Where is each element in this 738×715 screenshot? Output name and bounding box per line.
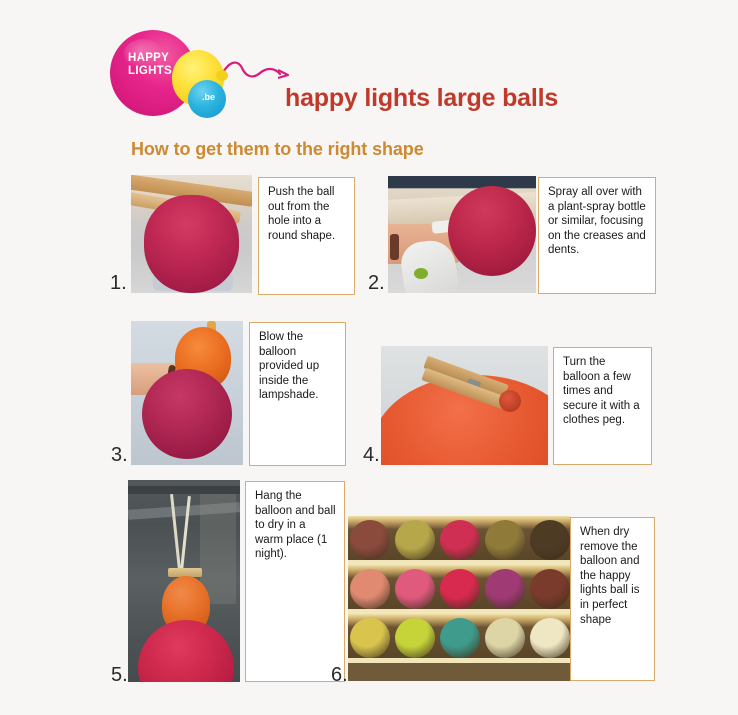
step-6-caption: When dry remove the balloon and the happ…	[570, 517, 655, 681]
logo-brand-line-1: HAPPY	[128, 52, 192, 65]
shelf-ball	[485, 618, 525, 658]
shelf-ball	[350, 618, 390, 658]
step-3-number: 3.	[111, 444, 128, 467]
balloon-string-icon	[220, 58, 294, 94]
logo-brand-line-2: LIGHTS	[128, 65, 192, 78]
step-2-caption: Spray all over with a plant-spray bottle…	[538, 177, 656, 294]
step-4-caption: Turn the balloon a few times and secure …	[553, 347, 652, 465]
step-1-caption: Push the ball out from the hole into a r…	[258, 177, 355, 295]
shelf-ball	[440, 569, 480, 609]
shelf-ball	[530, 520, 570, 560]
shelf-ball	[395, 569, 435, 609]
page-subtitle: How to get them to the right shape	[131, 139, 424, 160]
step-4-number: 4.	[363, 444, 380, 467]
shelf-ball	[530, 618, 570, 658]
shelf-ball	[485, 569, 525, 609]
step-3-caption: Blow the balloon provided up inside the …	[249, 322, 346, 466]
step-5-caption: Hang the balloon and ball to dry in a wa…	[245, 481, 345, 682]
step-5-photo	[128, 480, 240, 682]
shelf-ball	[350, 520, 390, 560]
step-1-number: 1.	[110, 272, 127, 295]
step-2-photo	[388, 176, 536, 293]
shelf-ball	[395, 520, 435, 560]
step-6-photo	[348, 516, 570, 681]
step-4-photo	[381, 346, 548, 465]
shelf-ball	[530, 569, 570, 609]
page-title: happy lights large balls	[285, 84, 558, 113]
step-3-photo	[131, 321, 243, 465]
shelf-ball	[350, 569, 390, 609]
brand-logo: HAPPY LIGHTS .be	[104, 22, 294, 122]
step-5-number: 5.	[111, 664, 128, 687]
shelf-ball	[440, 520, 480, 560]
shelf-ball	[440, 618, 480, 658]
logo-brand-text: HAPPY LIGHTS	[128, 52, 192, 78]
step-6-number: 6.	[331, 664, 348, 687]
logo-balloon-yellow-knot	[216, 70, 228, 81]
poster-page: HAPPY LIGHTS .be happy lights large ball…	[0, 0, 738, 715]
step-1-photo	[131, 175, 252, 293]
logo-domain-text: .be	[202, 92, 215, 102]
shelf-ball	[485, 520, 525, 560]
shelf-ball	[395, 618, 435, 658]
step-2-number: 2.	[368, 272, 385, 295]
